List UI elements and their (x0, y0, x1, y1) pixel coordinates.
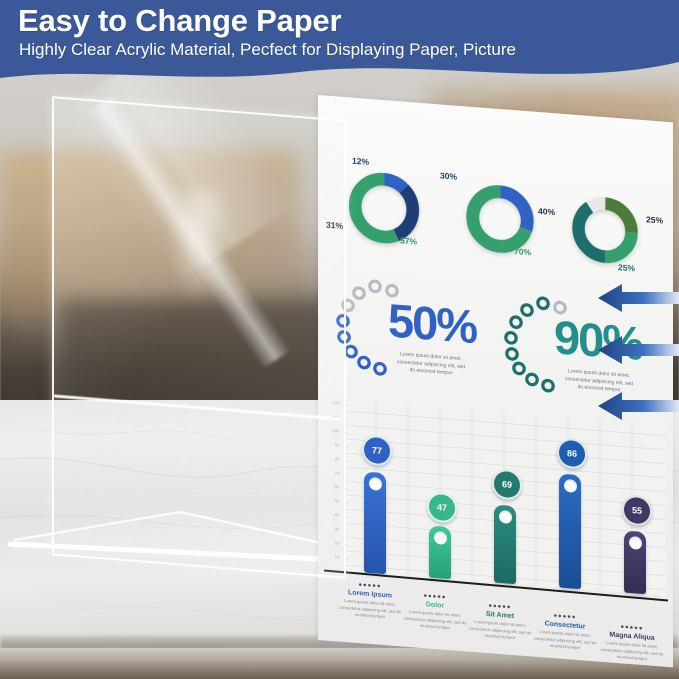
legend-lorem-ipsum-text: Lorem ipsum dolor sit amet, consectetur … (338, 598, 402, 622)
legend-consectetur: ●●●●● Consectetur Lorem ipsum dolor sit … (533, 612, 597, 653)
legend-dolor: ●●●●● Dolor Lorem ipsum dolor sit amet, … (403, 592, 467, 633)
banner-subtitle: Highly Clear Acrylic Material, Pecfect f… (19, 40, 516, 60)
legend-dolor-text: Lorem ipsum dolor sit amet, consectetur … (403, 609, 467, 633)
donut3-label-25b: 25% (618, 262, 635, 273)
annotation-arrows (596, 282, 679, 430)
big-percent-50-block: 50% Lorem ipsum dolor sit amet, consecte… (330, 274, 490, 398)
big-percent-50-value: 50% (388, 296, 476, 350)
legend-sit-amet: ●●●●● Sit Amet Lorem ipsum dolor sit ame… (468, 602, 532, 643)
donut2-label-30: 30% (440, 170, 457, 181)
bar-3-hole (499, 510, 512, 524)
donut3-label-25a: 25% (646, 214, 663, 225)
legend-lorem-ipsum: ●●●●● Lorem Ipsum Lorem ipsum dolor sit … (338, 581, 402, 622)
legend-consectetur-text: Lorem ipsum dolor sit amet, consectetur … (533, 629, 597, 653)
bar-2-hole (434, 531, 447, 545)
donut-charts-row: 12% 31% 57% 30% 70% (324, 147, 673, 282)
donut1-label-12: 12% (352, 156, 369, 167)
legend-sit-amet-text: Lorem ipsum dolor sit amet, consectetur … (468, 619, 532, 643)
bar-4-hole (564, 479, 577, 493)
header-banner: Easy to Change Paper Highly Clear Acryli… (0, 0, 679, 92)
donut-chart-3 (570, 192, 640, 267)
legend-magna-aliqua: ●●●●● Magna Aliqua Lorem ipsum dolor sit… (600, 623, 664, 664)
legend-magna-aliqua-text: Lorem ipsum dolor sit amet, consectetur … (600, 640, 664, 664)
donut1-label-57: 57% (400, 235, 417, 246)
donut3-label-40: 40% (538, 206, 555, 217)
bar-1-hole (369, 477, 382, 491)
donut2-label-70: 70% (514, 246, 531, 257)
banner-title: Easy to Change Paper (18, 3, 341, 39)
bar-5-hole (629, 536, 642, 550)
product-photo-scene: 12% 31% 57% 30% 70% (0, 0, 679, 679)
